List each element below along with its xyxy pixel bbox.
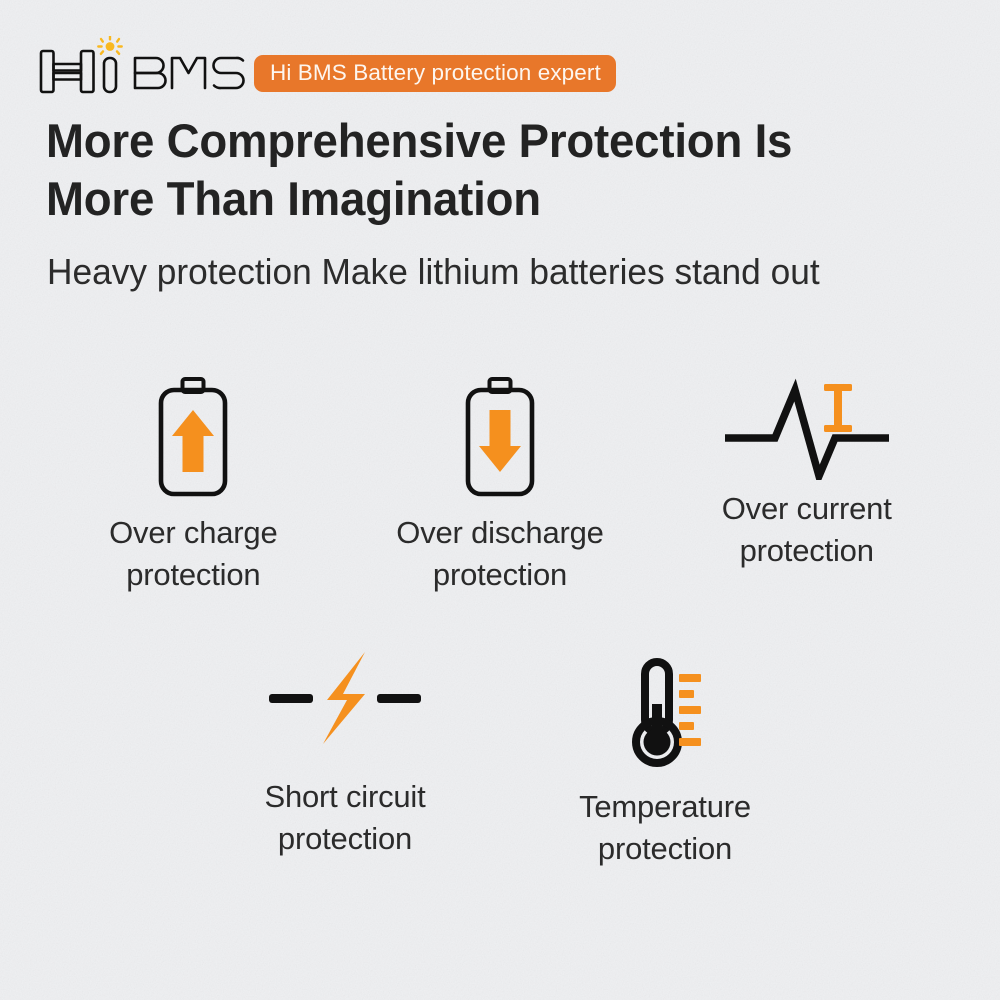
temperature-scale-ticks <box>679 674 701 746</box>
feature-label-temperature: Temperature protection <box>579 786 751 870</box>
feature-over-current: Over current protection <box>653 376 960 596</box>
sun-icon <box>98 37 121 54</box>
feature-over-discharge: Over discharge protection <box>347 376 654 596</box>
label-line-1: Over current <box>722 488 892 530</box>
current-symbol-I <box>824 384 852 432</box>
feature-label-short-circuit: Short circuit protection <box>264 776 425 860</box>
label-line-2: protection <box>264 818 425 860</box>
headline-line-1: More Comprehensive Protection Is <box>46 112 938 170</box>
feature-label-over-current: Over current protection <box>722 488 892 572</box>
feature-short-circuit: Short circuit protection <box>185 648 505 870</box>
battery-overdischarge-icon <box>462 376 538 498</box>
lightning-bolt <box>323 652 365 744</box>
label-line-2: protection <box>579 828 751 870</box>
subheadline: Heavy protection Make lithium batteries … <box>47 250 820 294</box>
headline-line-2: More Than Imagination <box>46 170 938 228</box>
feature-temperature: Temperature protection <box>505 648 825 870</box>
header: Hi BMS Battery protection expert <box>38 36 968 98</box>
label-line-2: protection <box>109 554 277 596</box>
feature-label-over-discharge: Over discharge protection <box>396 512 603 596</box>
label-line-2: protection <box>396 554 603 596</box>
label-line-1: Short circuit <box>264 776 425 818</box>
tagline-badge: Hi BMS Battery protection expert <box>254 55 616 92</box>
label-line-1: Over discharge <box>396 512 603 554</box>
feature-row-bottom: Short circuit protection <box>185 648 825 870</box>
dash-right <box>377 694 421 703</box>
label-line-2: protection <box>722 530 892 572</box>
brand-logo <box>38 36 252 96</box>
battery-overcharge-icon <box>155 376 231 498</box>
label-line-1: Temperature <box>579 786 751 828</box>
current-waveform-icon <box>723 376 891 480</box>
page-title: More Comprehensive Protection Is More Th… <box>46 112 966 228</box>
label-line-1: Over charge <box>109 512 277 554</box>
tagline-text: Hi BMS Battery protection expert <box>270 62 601 85</box>
thermometer-icon <box>613 648 717 772</box>
dash-left <box>269 694 313 703</box>
feature-row-top: Over charge protection Over discharge pr… <box>40 376 960 596</box>
feature-over-charge: Over charge protection <box>40 376 347 596</box>
infographic-page: Hi BMS Battery protection expert More Co… <box>0 0 1000 1000</box>
feature-label-over-charge: Over charge protection <box>109 512 277 596</box>
short-circuit-bolt-icon <box>265 648 425 748</box>
